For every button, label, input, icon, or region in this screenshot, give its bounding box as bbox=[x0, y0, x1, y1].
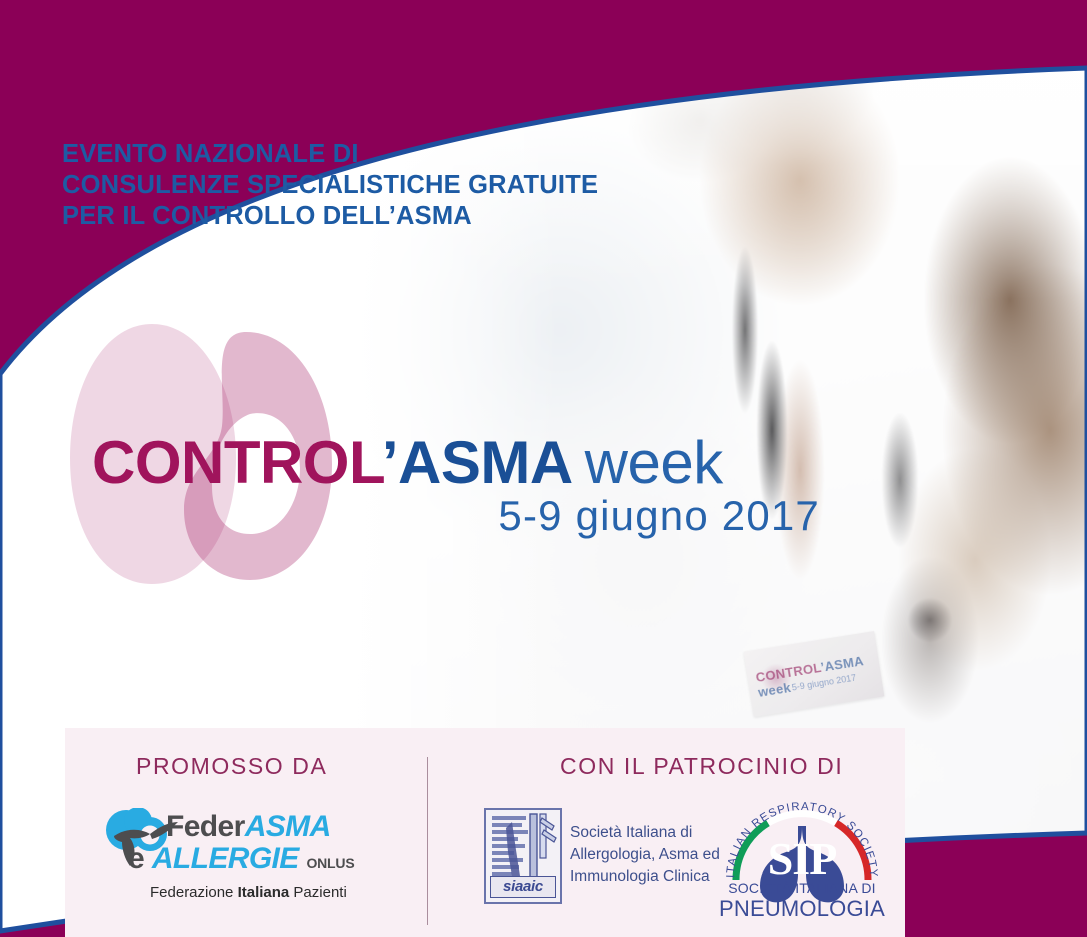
logotype-lasma: ’ASMA bbox=[382, 429, 573, 496]
promosso-da-title: PROMOSSO DA bbox=[136, 753, 327, 780]
sip-caption-line-1: SOCIETÀ ITALIANA DI bbox=[718, 880, 886, 897]
siaaic-logo[interactable]: siaaic Società Italiana di Allergologia,… bbox=[484, 808, 699, 902]
event-logotype: CONTROL’ASMAweek 5-9 giugno 2017 bbox=[92, 430, 852, 550]
con-il-patrocinio-di-title: CON IL PATROCINIO DI bbox=[560, 753, 843, 780]
siaaic-emblem-icon: siaaic bbox=[484, 808, 562, 904]
siaaic-name: Società Italiana di Allergologia, Asma e… bbox=[570, 822, 720, 888]
logotype-week: week bbox=[585, 429, 723, 496]
headline-line-3: PER IL CONTROLLO DELL’ASMA bbox=[62, 201, 722, 232]
svg-text:SIP: SIP bbox=[768, 833, 837, 884]
headline-line-2: CONSULENZE SPECIALISTICHE GRATUITE bbox=[62, 170, 722, 201]
siaaic-name-line-2: Allergologia, Asma ed bbox=[570, 844, 720, 866]
logotype-control: CONTROL bbox=[92, 429, 382, 496]
siaaic-name-line-3: Immunologia Clinica bbox=[570, 866, 720, 888]
sip-caption: SOCIETÀ ITALIANA DI PNEUMOLOGIA bbox=[718, 880, 886, 921]
federasma-subtitle: Federazione Italiana Pazienti bbox=[150, 884, 347, 901]
footer-divider bbox=[427, 757, 428, 925]
headline: EVENTO NAZIONALE DI CONSULENZE SPECIALIS… bbox=[62, 139, 722, 232]
poster-root: CONTROL’ASMA week 5-9 giugno 2017 EVENTO… bbox=[0, 0, 1087, 937]
siaaic-wordmark: siaaic bbox=[490, 876, 556, 898]
siaaic-name-line-1: Società Italiana di bbox=[570, 822, 720, 844]
headline-line-1: EVENTO NAZIONALE DI bbox=[62, 139, 722, 170]
federasma-onlus: ONLUS bbox=[306, 855, 354, 871]
sip-caption-line-2: PNEUMOLOGIA bbox=[718, 897, 886, 921]
logotype-dates: 5-9 giugno 2017 bbox=[498, 492, 820, 540]
federasma-line-2: e ALLERGIE ONLUS bbox=[128, 842, 354, 876]
federasma-logo[interactable]: FederASMA e ALLERGIE ONLUS Federazione I… bbox=[100, 806, 355, 906]
federasma-line-1: FederASMA bbox=[166, 810, 331, 844]
sip-logo[interactable]: SIP ITALIAN RESPIRATORY SOCIETY SOCIETÀ … bbox=[718, 792, 886, 924]
logotype-line-1: CONTROL’ASMAweek bbox=[92, 430, 723, 496]
